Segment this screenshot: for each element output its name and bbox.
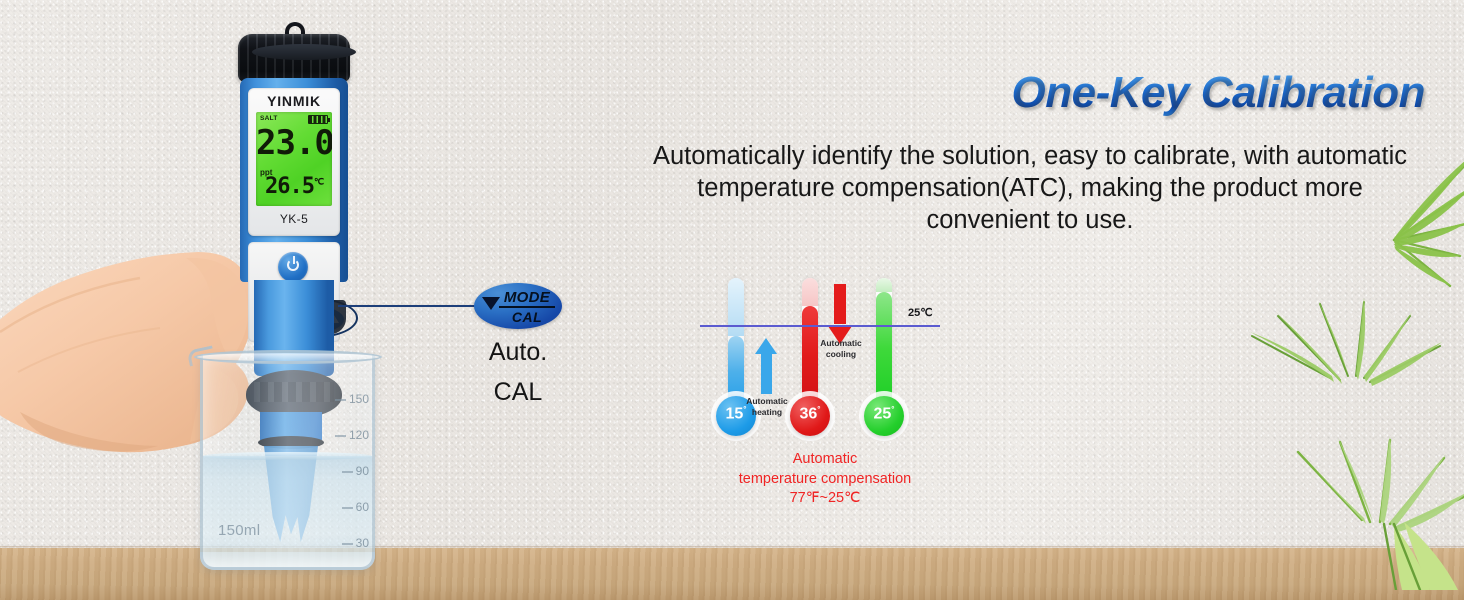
callout-leader-line — [338, 305, 488, 307]
thermometer-hot: 36° — [788, 278, 832, 458]
thermometer-tube-empty — [728, 278, 744, 336]
reference-temperature-label: 25℃ — [908, 306, 933, 319]
model-number: YK-5 — [248, 212, 340, 226]
arrow-down-shaft — [834, 284, 846, 324]
degree-symbol: ° — [891, 405, 894, 414]
brand-logo: YINMIK — [248, 93, 340, 109]
atc-caption: Automatic temperature compensation 77℉~2… — [680, 450, 970, 509]
water-surface — [203, 452, 372, 460]
mode-cal-badge-text: MODE CAL — [499, 290, 555, 324]
lcd-mode-label: SALT — [260, 115, 278, 122]
marketing-banner: One-Key Calibration Automatically identi… — [0, 0, 1464, 600]
thermometer-value-number: 36 — [800, 405, 818, 422]
graduation-mark: 60 — [356, 500, 369, 514]
water-quality-meter: YINMIK SALT 23.0 ppt 26.5℃ YK-5 ON/OFF — [228, 22, 356, 382]
arrow-up-shaft — [761, 352, 772, 394]
mode-cal-badge: MODE CAL — [474, 283, 562, 329]
badge-cal-label: CAL — [499, 308, 555, 324]
atc-caption-line1: Automatic — [680, 450, 970, 470]
description-text: Automatically identify the solution, eas… — [640, 140, 1420, 236]
glass-beaker: 150 120 90 60 30 150ml — [186, 340, 391, 572]
automatic-cooling-note: Automatic cooling — [808, 338, 874, 359]
thermometer-tube-empty — [876, 278, 892, 292]
protective-cap — [238, 34, 350, 82]
beaker-volume-label: 150ml — [218, 522, 260, 539]
thermometer-target: 25° — [862, 278, 906, 458]
thermometer-value-number: 25 — [874, 405, 892, 422]
graduation-mark: 90 — [356, 464, 369, 478]
triangle-down-icon — [482, 297, 500, 310]
arrow-up-icon — [755, 338, 777, 394]
lcd-main-reading: 23.0 — [256, 126, 332, 160]
auto-cal-label-line1: Auto. — [462, 338, 574, 367]
lcd-temp-value: 26.5 — [265, 174, 314, 199]
lcd-temp-unit: ℃ — [314, 178, 323, 188]
cap-top-surface — [252, 44, 356, 60]
graduation-mark: 120 — [349, 428, 369, 442]
beaker-base — [200, 552, 375, 570]
graduation-mark: 150 — [349, 392, 369, 406]
thermometer-cold: 15° — [714, 278, 758, 458]
atc-caption-line3: 77℉~25℃ — [680, 489, 970, 509]
lcd-screen: SALT 23.0 ppt 26.5℃ — [256, 112, 332, 206]
lcd-temperature-reading: 26.5℃ — [256, 176, 332, 198]
degree-symbol: ° — [817, 405, 820, 414]
badge-mode-label: MODE — [499, 290, 555, 308]
auto-cal-label-line2: CAL — [462, 378, 574, 407]
graduation-mark: 30 — [356, 536, 369, 550]
thermometer-tube-empty — [802, 278, 818, 306]
automatic-heating-note: Automatic heating — [736, 396, 798, 417]
power-icon — [287, 259, 299, 271]
thermometer-bulb: 25° — [864, 396, 904, 436]
atc-caption-line2: temperature compensation — [680, 470, 970, 490]
device-faceplate: YINMIK SALT 23.0 ppt 26.5℃ YK-5 — [248, 88, 340, 236]
beaker-rim — [194, 350, 382, 364]
arrow-down-icon — [828, 284, 852, 344]
thermometer-value: 25° — [864, 406, 904, 422]
page-title: One-Key Calibration — [905, 68, 1425, 118]
power-button[interactable] — [278, 252, 308, 282]
reference-temperature-line — [700, 325, 940, 327]
